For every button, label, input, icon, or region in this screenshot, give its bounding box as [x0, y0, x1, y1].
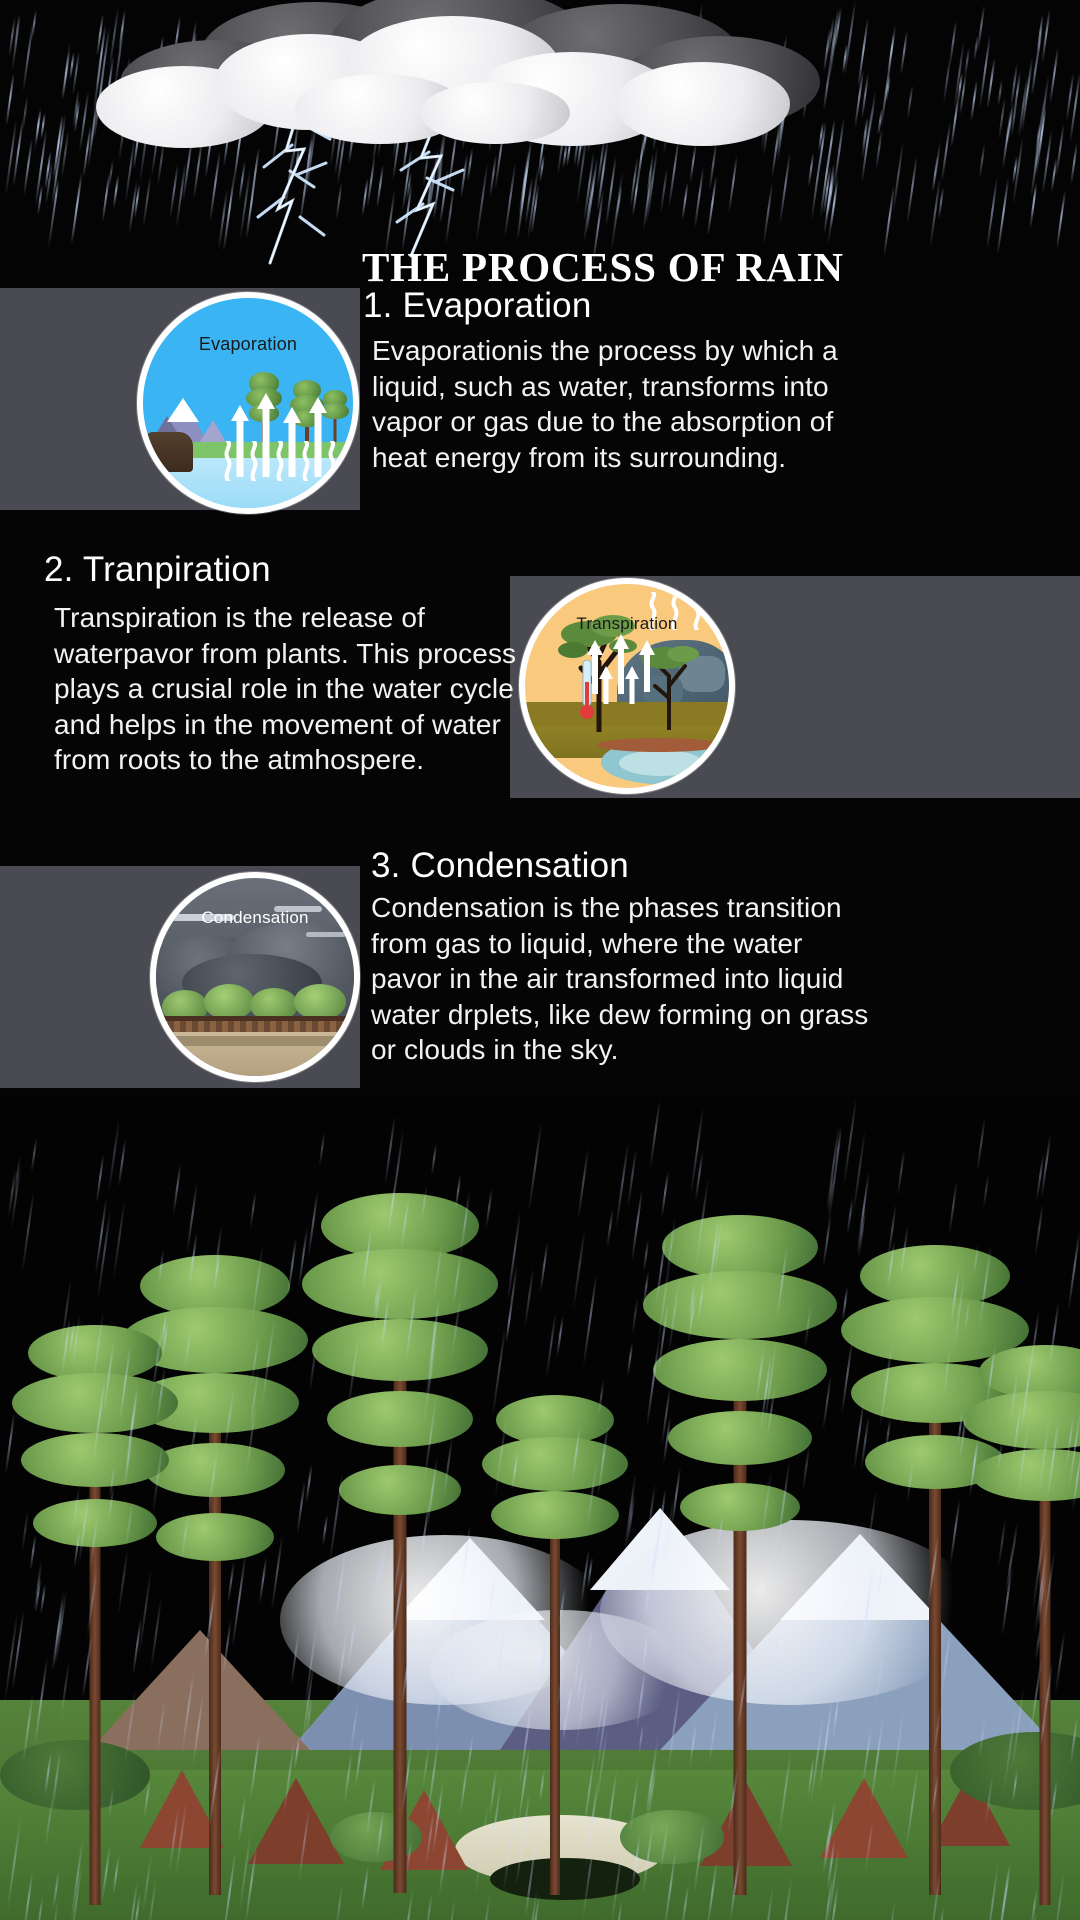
transpiration-circle-label: Transpiration — [525, 614, 729, 634]
transpiration-circle-illustration: Transpiration — [519, 578, 735, 794]
section-2-heading: 2. Tranpiration — [44, 550, 271, 590]
rain-streaks — [0, 1095, 1080, 1920]
condensation-circle-illustration: Condensation — [150, 872, 360, 1082]
storm-cloud — [615, 62, 790, 146]
forest-scene-footer — [0, 1095, 1080, 1920]
section-1-heading: 1. Evaporation — [363, 286, 592, 326]
condensation-circle-label: Condensation — [156, 908, 354, 928]
section-2-body: Transpiration is the release of waterpav… — [54, 600, 524, 778]
section-3-body: Condensation is the phases transition fr… — [371, 890, 871, 1068]
storm-cloud — [420, 82, 570, 144]
page-title: THE PROCESS OF RAIN — [362, 243, 844, 291]
evaporation-circle-label: Evaporation — [143, 334, 353, 355]
evaporation-circle-illustration: Evaporation — [137, 292, 359, 514]
section-1-body: Evaporationis the process by which a liq… — [372, 333, 842, 475]
section-3-heading: 3. Condensation — [371, 846, 629, 886]
